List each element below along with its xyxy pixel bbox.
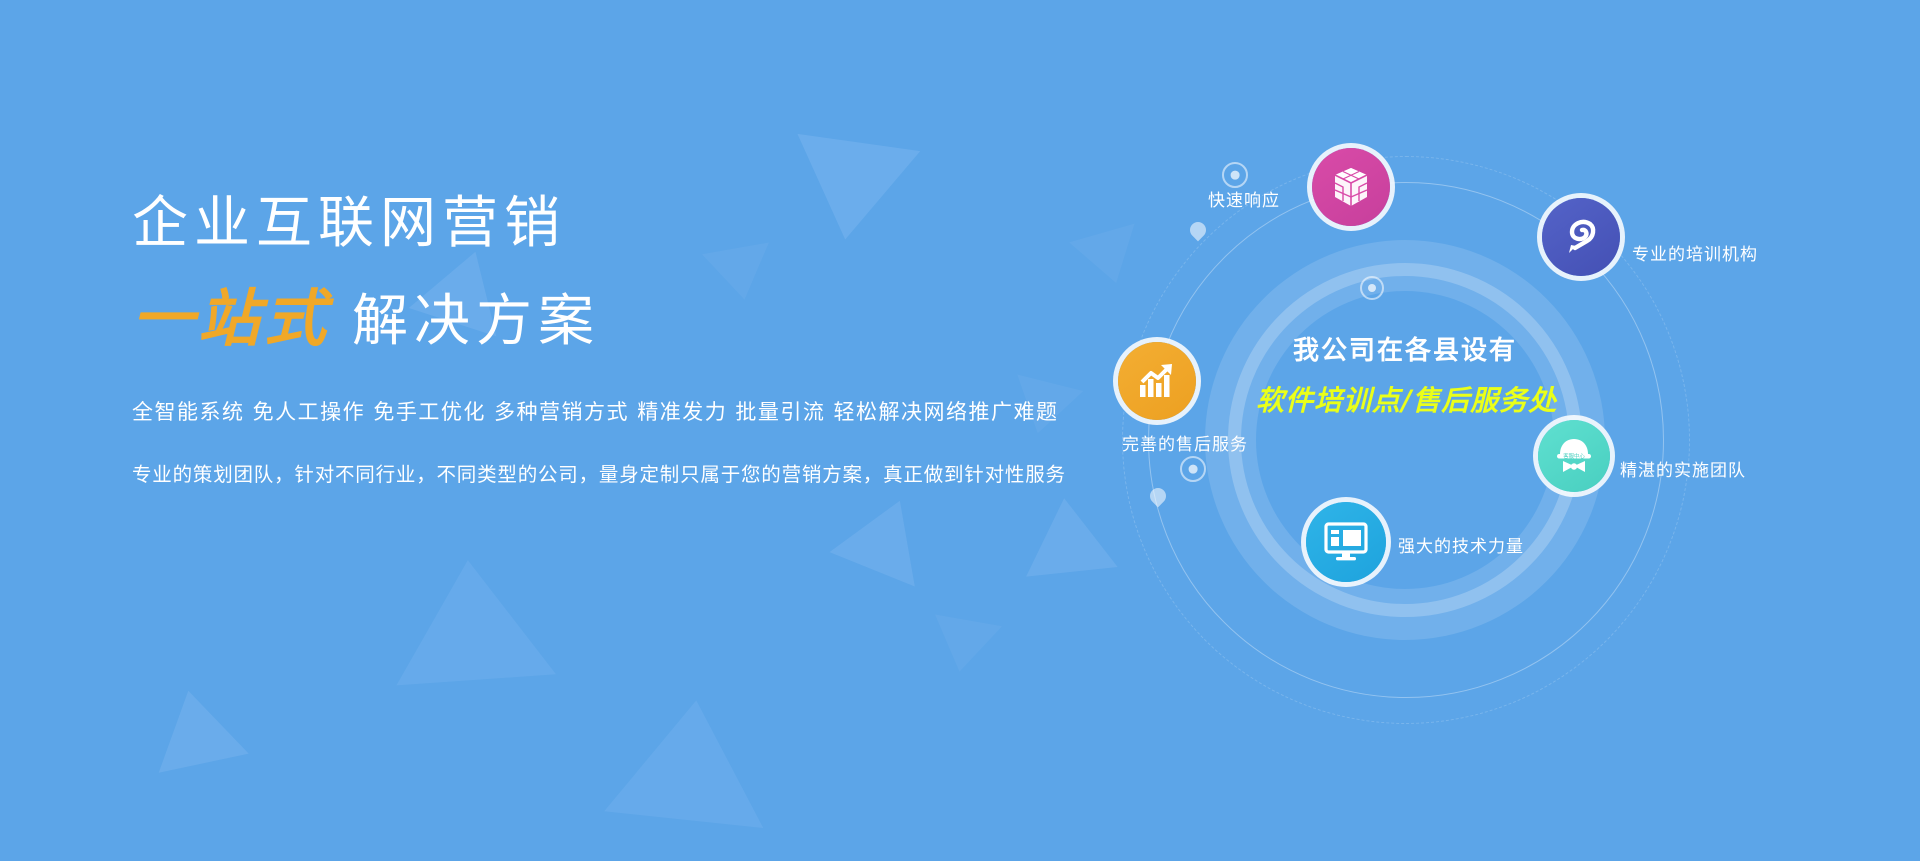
subtitle-line: 一站式解决方案 (132, 288, 1052, 350)
feature-text-secondary: 专业的策划团队，针对不同行业，不同类型的公司，量身定制只属于您的营销方案，真正做… (132, 458, 1052, 487)
center-message-line-1: 我公司在各县设有 (1256, 330, 1554, 367)
support-agent-icon: 客服中心 (1552, 436, 1596, 476)
headline-block: 企业互联网营销 一站式解决方案 全智能系统 免人工操作 免手工优化 多种营销方式… (132, 196, 1052, 487)
badge-fast-response[interactable] (1312, 148, 1390, 226)
badge-label-training-institute: 专业的培训机构 (1632, 240, 1758, 265)
feature-text-primary: 全智能系统 免人工操作 免手工优化 多种营销方式 精准发力 批量引流 轻松解决网… (132, 396, 1052, 426)
badge-label-technical-strength: 强大的技术力量 (1398, 532, 1524, 557)
decorative-triangle (829, 483, 942, 586)
decorative-triangle (926, 614, 1002, 677)
pencil-icon (1559, 215, 1603, 259)
decorative-triangle (143, 681, 248, 773)
subtitle-plain: 解决方案 (352, 289, 600, 354)
target-ring-icon (1222, 162, 1248, 188)
badge-label-fast-response: 快速响应 (1208, 186, 1280, 211)
badge-after-sales-service[interactable] (1118, 342, 1196, 420)
center-message-line-2: 软件培训点/售后服务处 (1256, 379, 1554, 419)
decorative-triangle (388, 555, 556, 686)
target-ring-icon (1180, 456, 1206, 482)
monitor-icon (1323, 521, 1369, 563)
page-title: 企业互联网营销 (132, 196, 1052, 252)
badge-implementation-team[interactable]: 客服中心 (1538, 420, 1610, 492)
svg-text:客服中心: 客服中心 (1563, 452, 1585, 460)
marketing-banner: 企业互联网营销 一站式解决方案 全智能系统 免人工操作 免手工优化 多种营销方式… (0, 0, 1920, 861)
badge-training-institute[interactable] (1542, 198, 1620, 276)
center-message: 我公司在各县设有 软件培训点/售后服务处 (1256, 330, 1554, 419)
subtitle-accent: 一站式 (132, 282, 330, 355)
badge-technical-strength[interactable] (1306, 502, 1386, 582)
badge-label-implementation-team: 精湛的实施团队 (1620, 456, 1746, 481)
cube-icon (1331, 166, 1371, 208)
growth-chart-icon (1136, 361, 1178, 401)
decorative-triangle (604, 692, 776, 828)
badge-label-after-sales-service: 完善的售后服务 (1122, 430, 1248, 455)
target-ring-icon (1360, 276, 1384, 300)
orbit-graphic: 我公司在各县设有 软件培训点/售后服务处 快速响应 (1060, 120, 1920, 740)
